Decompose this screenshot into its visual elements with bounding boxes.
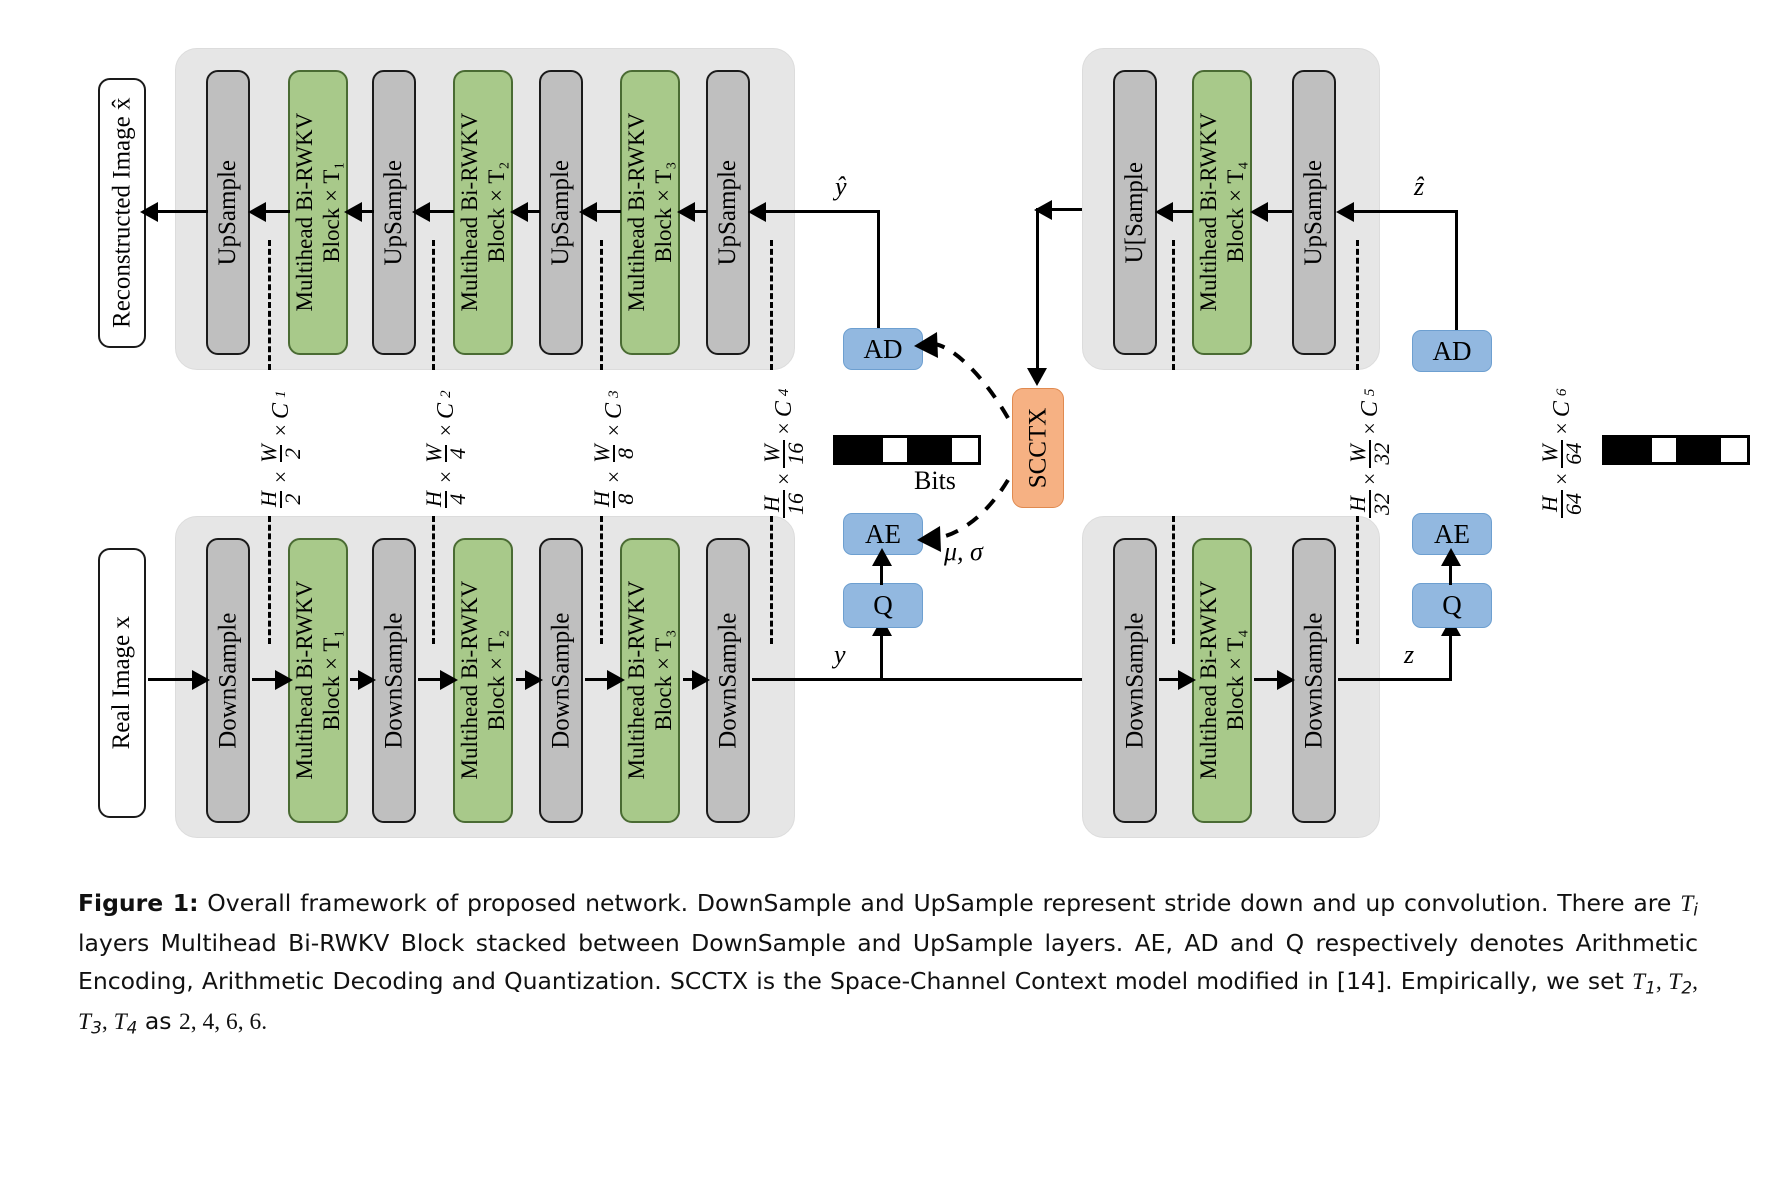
- decoder-right-upsample-2: UpSample: [1292, 70, 1336, 355]
- q-right-label: Q: [1442, 590, 1462, 621]
- z-label: z: [1404, 640, 1414, 670]
- fraction-h: H32: [1347, 490, 1394, 518]
- caption-part-2: layers Multihead Bi-RWKV Block stacked b…: [78, 929, 1698, 995]
- caption-math-ti-sub: i: [1693, 900, 1698, 920]
- arrowhead-right: [1277, 670, 1295, 690]
- ad-right-label: AD: [1433, 336, 1472, 367]
- arrowhead-up: [1441, 548, 1461, 566]
- bit-segment: [1605, 438, 1652, 462]
- fraction-h: H64: [1539, 490, 1586, 518]
- caption-comma: ,: [1692, 969, 1698, 995]
- arrowhead-left: [1155, 202, 1173, 222]
- dash-separator: [1356, 240, 1359, 370]
- dash-separator: [1172, 240, 1175, 370]
- encoder-right-downsample-1: DownSample: [1113, 538, 1157, 823]
- decoder-right-upsample-1: U[Sample: [1113, 70, 1157, 355]
- block-repeat-count: T₄: [1223, 630, 1248, 652]
- ad-right-box: AD: [1412, 330, 1492, 372]
- block-label: Multihead Bi-RWKV: [1196, 581, 1221, 780]
- zhat-vertical: [1455, 210, 1458, 330]
- caption-math-t2: T: [1668, 969, 1681, 995]
- caption-figure-label: Figure 1:: [78, 889, 198, 917]
- ae-right-label: AE: [1434, 519, 1470, 550]
- scctx-to-ae-curve: [0, 0, 1773, 860]
- caption-math-t4-sub: 4: [127, 1018, 138, 1038]
- caption-math-t3: T: [78, 1009, 91, 1035]
- q-right-box: Q: [1412, 583, 1492, 628]
- caption-math-t1: T: [1632, 969, 1645, 995]
- block-label: Multihead Bi-RWKV: [1196, 113, 1221, 312]
- z-bus-line: [1338, 678, 1452, 681]
- fraction-w: W32: [1347, 440, 1394, 468]
- channel-symbol: C: [1357, 401, 1384, 417]
- block-label-line2: Block ×: [1223, 189, 1248, 263]
- block-label: U[Sample: [1120, 162, 1150, 263]
- caption-math-t3-sub: 3: [91, 1018, 102, 1038]
- zhat-label: ẑ: [1414, 172, 1424, 202]
- caption-math-t2-sub: 2: [1681, 978, 1692, 998]
- decoder-right-rwkv: Multihead Bi-RWKV Block × T₄: [1192, 70, 1252, 355]
- caption-part-1: Overall framework of proposed network. D…: [198, 889, 1680, 917]
- arrowhead-right: [1178, 670, 1196, 690]
- channel-symbol: C: [1549, 401, 1576, 417]
- encoder-right-rwkv: Multihead Bi-RWKV Block × T₄: [1192, 538, 1252, 823]
- z-to-q-line: [1449, 630, 1452, 680]
- block-repeat-count: T₄: [1223, 162, 1248, 184]
- channel-index: 5: [1362, 389, 1379, 397]
- bit-segment: [1652, 438, 1676, 462]
- block-label: DownSample: [1120, 612, 1150, 748]
- figure-caption: Figure 1: Overall framework of proposed …: [78, 884, 1698, 1042]
- arrowhead-left: [1336, 202, 1354, 222]
- caption-comma: ,: [102, 1009, 114, 1035]
- figure-diagram: Reconstructed Image x̂ UpSample Multihea…: [0, 0, 1773, 860]
- caption-comma: ,: [1656, 969, 1668, 995]
- channel-index: 6: [1554, 389, 1571, 397]
- zhat-horizontal: [1340, 210, 1458, 213]
- caption-part-3: as: [137, 1007, 179, 1035]
- fraction-w: W64: [1539, 440, 1586, 468]
- caption-values: 2, 4, 6, 6.: [179, 1009, 267, 1035]
- dash-separator: [1356, 516, 1359, 644]
- block-label-line2: Block ×: [1223, 657, 1248, 731]
- caption-math-t1-sub: 1: [1645, 978, 1656, 998]
- bitstream-right: [1602, 435, 1750, 465]
- caption-math-ti: T: [1680, 891, 1693, 917]
- bit-segment: [1676, 438, 1721, 462]
- caption-math-t4: T: [114, 1009, 127, 1035]
- dimension-label-c5: H32 × W32 × C5: [1347, 389, 1394, 518]
- block-label: UpSample: [1299, 160, 1329, 266]
- block-label: DownSample: [1299, 612, 1329, 748]
- encoder-right-downsample-2: DownSample: [1292, 538, 1336, 823]
- mu-sigma-label: μ, σ: [944, 537, 983, 567]
- bit-segment: [1721, 438, 1747, 462]
- arrowhead-left: [1250, 202, 1268, 222]
- dimension-label-c6: H64 × W64 × C6: [1539, 389, 1586, 518]
- dash-separator: [1172, 516, 1175, 644]
